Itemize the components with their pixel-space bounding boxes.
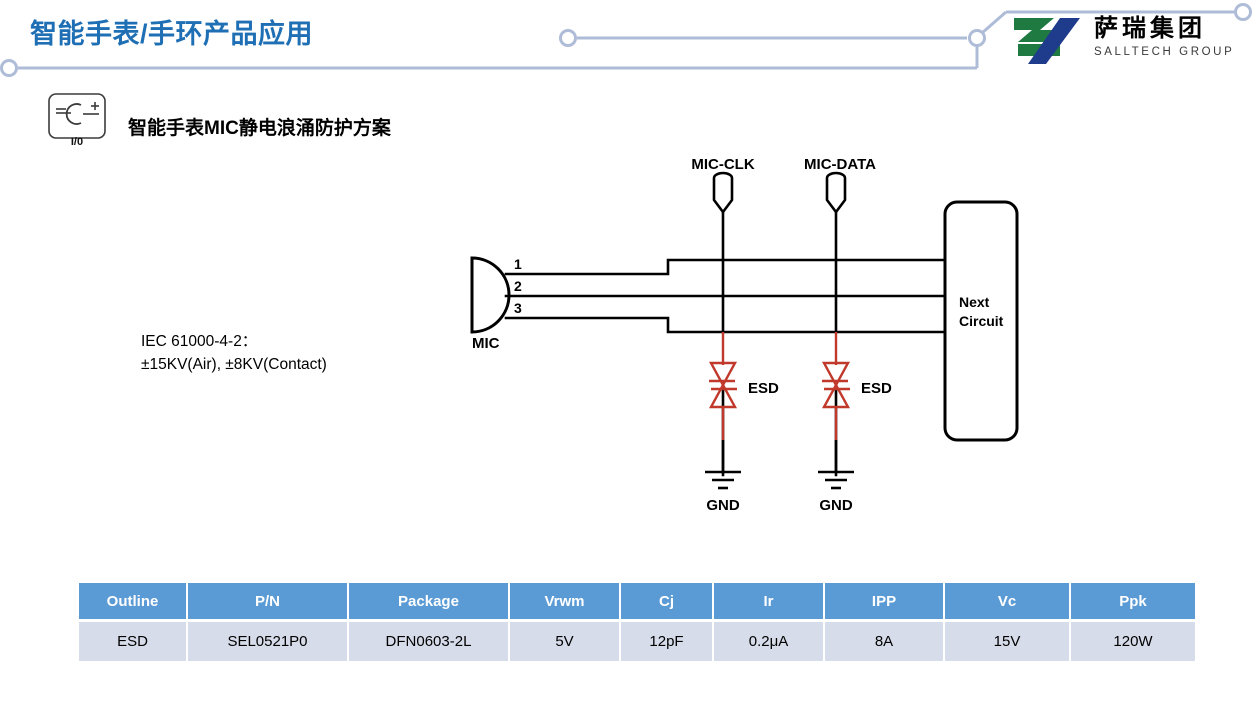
cell-package: DFN0603-2L bbox=[349, 619, 510, 661]
gnd-2-label: GND bbox=[819, 497, 853, 514]
gnd-1-label: GND bbox=[706, 497, 740, 514]
cell-vc: 15V bbox=[945, 619, 1071, 661]
esd-1-label: ESD bbox=[748, 380, 779, 397]
cell-cj: 12pF bbox=[621, 619, 714, 661]
io-badge-icon: I/0 bbox=[47, 93, 115, 146]
testpoint-clk-icon bbox=[714, 173, 732, 212]
mic-pin-1-label: 1 bbox=[514, 256, 522, 272]
column-header-ipp: IPP bbox=[825, 583, 945, 619]
page-title: 智能手表/手环产品应用 bbox=[30, 12, 313, 51]
iec-note-line-1: IEC 61000-4-2： bbox=[141, 330, 327, 353]
logo-name-en: SALLTECH GROUP bbox=[1094, 45, 1252, 60]
page-header: 智能手表/手环产品应用 萨瑞集团 SALLTECH GROUP bbox=[0, 0, 1257, 90]
next-circuit-label-line1: Next bbox=[959, 294, 990, 310]
brand-logo: 萨瑞集团 SALLTECH GROUP bbox=[1008, 12, 1248, 74]
testpoint-clk-label: MIC-CLK bbox=[691, 156, 754, 173]
column-header-pn: P/N bbox=[188, 583, 349, 619]
next-circuit-label-line2: Circuit bbox=[959, 313, 1004, 329]
section-heading: 智能手表MIC静电浪涌防护方案 bbox=[128, 113, 391, 140]
column-header-vrwm: Vrwm bbox=[510, 583, 621, 619]
iec-note-line-2: ±15KV(Air), ±8KV(Contact) bbox=[141, 353, 327, 376]
spec-table: Outline P/N Package Vrwm Cj Ir IPP Vc Pp… bbox=[79, 583, 1195, 661]
testpoint-data-label: MIC-DATA bbox=[804, 156, 876, 173]
ground-symbol-1-icon bbox=[705, 440, 741, 488]
esd-diode-2-icon bbox=[822, 332, 850, 440]
iec-standard-note: IEC 61000-4-2： ±15KV(Air), ±8KV(Contact) bbox=[141, 330, 327, 376]
cell-ipp: 8A bbox=[825, 619, 945, 661]
column-header-ppk: Ppk bbox=[1071, 583, 1195, 619]
cell-ppk: 120W bbox=[1071, 619, 1195, 661]
logo-wordmark: 萨瑞集团 SALLTECH GROUP bbox=[1094, 14, 1252, 60]
esd-diode-1-icon bbox=[709, 332, 737, 440]
mic-label: MIC bbox=[472, 335, 500, 352]
ground-symbol-2-icon bbox=[818, 440, 854, 488]
table-row: ESD SEL0521P0 DFN0603-2L 5V 12pF 0.2μA 8… bbox=[79, 619, 1195, 661]
mic-pin-3-label: 3 bbox=[514, 300, 522, 316]
column-header-ir: Ir bbox=[714, 583, 825, 619]
column-header-vc: Vc bbox=[945, 583, 1071, 619]
salltech-logo-icon bbox=[1008, 16, 1086, 66]
column-header-outline: Outline bbox=[79, 583, 188, 619]
column-header-package: Package bbox=[349, 583, 510, 619]
table-header-row: Outline P/N Package Vrwm Cj Ir IPP Vc Pp… bbox=[79, 583, 1195, 619]
cell-outline: ESD bbox=[79, 619, 188, 661]
cell-pn: SEL0521P0 bbox=[188, 619, 349, 661]
svg-text:I/0: I/0 bbox=[71, 136, 83, 146]
esd-2-label: ESD bbox=[861, 380, 892, 397]
testpoint-data-icon bbox=[827, 173, 845, 212]
mic-pin-2-label: 2 bbox=[514, 278, 522, 294]
esd-protection-schematic: MIC 1 2 3 MIC-CLK MIC-DATA ESD ESD GND G… bbox=[440, 150, 1040, 530]
cell-vrwm: 5V bbox=[510, 619, 621, 661]
logo-name-cn: 萨瑞集团 bbox=[1094, 14, 1252, 44]
column-header-cj: Cj bbox=[621, 583, 714, 619]
cell-ir: 0.2μA bbox=[714, 619, 825, 661]
